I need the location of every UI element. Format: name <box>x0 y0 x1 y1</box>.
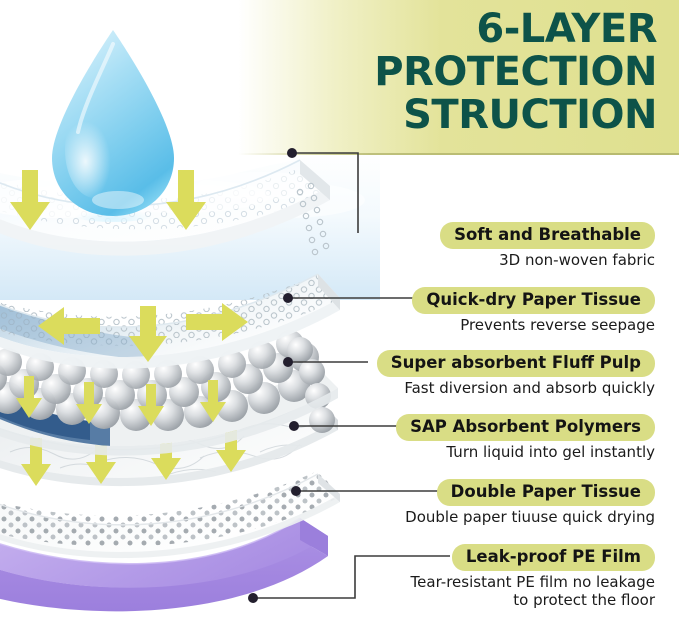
callout-subtitle: 3D non-woven fabric <box>440 251 655 269</box>
callout-subtitle: Tear-resistant PE film no leakage to pro… <box>411 573 655 609</box>
callout-subtitle: Double paper tiuuse quick drying <box>405 508 655 526</box>
infographic-canvas: 6-LAYER PROTECTION STRUCTION Soft and Br… <box>0 0 679 632</box>
callout-sap-absorbent-polymers: SAP Absorbent Polymers Turn liquid into … <box>396 414 655 461</box>
callout-subtitle: Prevents reverse seepage <box>412 316 655 334</box>
callout-subtitle: Turn liquid into gel instantly <box>396 443 655 461</box>
callout-leak-proof-pe-film: Leak-proof PE Film Tear-resistant PE fil… <box>411 544 655 609</box>
title-line-3: STRUCTION <box>257 94 657 137</box>
page-title: 6-LAYER PROTECTION STRUCTION <box>257 8 657 137</box>
callout-label: Super absorbent Fluff Pulp <box>377 350 655 377</box>
callout-label: Leak-proof PE Film <box>452 544 655 571</box>
callout-soft-and-breathable: Soft and Breathable 3D non-woven fabric <box>440 222 655 269</box>
callout-label: SAP Absorbent Polymers <box>396 414 655 441</box>
title-underline <box>238 153 679 155</box>
title-line-2: PROTECTION <box>257 51 657 94</box>
callout-double-paper-tissue: Double Paper Tissue Double paper tiuuse … <box>405 479 655 526</box>
callout-subtitle-line-1: Tear-resistant PE film no leakage <box>411 573 655 591</box>
callout-subtitle-line-2: to protect the floor <box>411 591 655 609</box>
title-line-1: 6-LAYER <box>257 8 657 51</box>
callout-super-absorbent-fluff-pulp: Super absorbent Fluff Pulp Fast diversio… <box>377 350 655 397</box>
callout-label: Soft and Breathable <box>440 222 655 249</box>
callout-subtitle: Fast diversion and absorb quickly <box>377 379 655 397</box>
callout-label: Double Paper Tissue <box>437 479 655 506</box>
callout-quick-dry-paper-tissue: Quick-dry Paper Tissue Prevents reverse … <box>412 287 655 334</box>
callout-label: Quick-dry Paper Tissue <box>412 287 655 314</box>
